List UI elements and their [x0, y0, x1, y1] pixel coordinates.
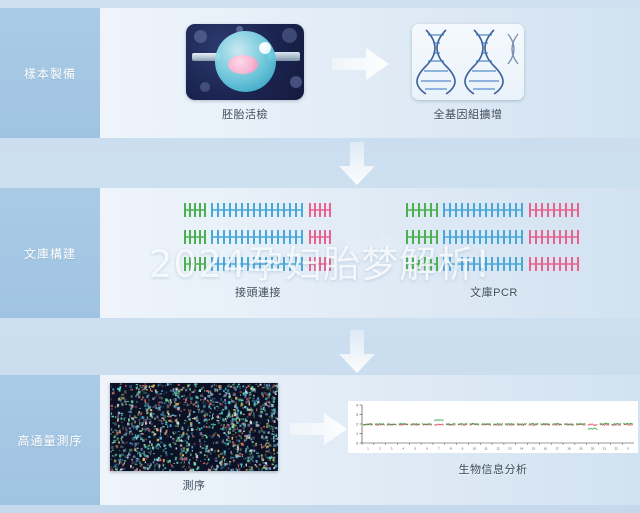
- stage-label-text: 高通量測序: [17, 432, 82, 449]
- stage-label-text: 文庫構建: [24, 245, 76, 262]
- svg-text:2: 2: [379, 447, 381, 451]
- sequencing-flowcell-image: [110, 383, 278, 471]
- stage-body-sequencing: 測序 012341234567891011121314151: [100, 375, 640, 505]
- arrow-down-icon: [338, 142, 376, 186]
- panel-bioinformatics-analysis: 0123412345678910111213141516171819202122…: [348, 401, 638, 477]
- workflow-diagram: 樣本製備 胚胎活檢: [0, 0, 640, 513]
- svg-text:X: X: [627, 447, 629, 451]
- svg-text:15: 15: [532, 447, 536, 451]
- panel-caption: 胚胎活檢: [186, 106, 304, 122]
- svg-text:3: 3: [391, 447, 393, 451]
- svg-text:9: 9: [462, 447, 464, 451]
- svg-text:19: 19: [579, 447, 583, 451]
- arrow-right-icon: [290, 411, 348, 447]
- stage-body-library-construction: 接頭連接: [100, 188, 640, 318]
- svg-text:5: 5: [414, 447, 416, 451]
- svg-text:22: 22: [615, 447, 619, 451]
- svg-text:16: 16: [544, 447, 548, 451]
- svg-text:20: 20: [591, 447, 595, 451]
- panel-caption: 接頭連接: [182, 284, 334, 300]
- arrow-down-icon: [338, 330, 376, 374]
- svg-text:6: 6: [426, 447, 428, 451]
- inner-cell-mass-shape: [228, 55, 258, 74]
- svg-text:14: 14: [520, 447, 524, 451]
- panel-caption: 測序: [110, 477, 278, 493]
- library-adapter-bars: [182, 200, 334, 274]
- blastocoel-shape: [259, 42, 271, 54]
- panel-adapter-ligation: 接頭連接: [182, 200, 334, 300]
- svg-text:10: 10: [473, 447, 477, 451]
- workflow-row-sequencing: 高通量測序 測序: [0, 375, 640, 505]
- dna-helix-image: [412, 24, 524, 100]
- embryo-biopsy-image: [186, 24, 304, 100]
- svg-text:13: 13: [508, 447, 512, 451]
- stage-label-sample-prep: 樣本製備: [0, 8, 100, 138]
- workflow-row-library-construction: 文庫構建: [0, 188, 640, 318]
- svg-text:18: 18: [567, 447, 571, 451]
- svg-text:0: 0: [356, 442, 358, 446]
- svg-text:3: 3: [356, 413, 358, 417]
- stage-body-sample-prep: 胚胎活檢: [100, 8, 640, 138]
- svg-text:1: 1: [356, 432, 358, 436]
- panel-caption: 生物信息分析: [348, 461, 638, 477]
- svg-text:1: 1: [367, 447, 369, 451]
- arrow-right-icon: [332, 46, 390, 82]
- svg-text:7: 7: [438, 447, 440, 451]
- panel-caption: 全基因組擴增: [412, 106, 524, 122]
- workflow-row-sample-prep: 樣本製備 胚胎活檢: [0, 8, 640, 138]
- stage-label-library-construction: 文庫構建: [0, 188, 100, 318]
- svg-text:12: 12: [496, 447, 500, 451]
- svg-text:8: 8: [450, 447, 452, 451]
- svg-text:4: 4: [403, 447, 405, 451]
- panel-whole-genome-amplification: 全基因組擴增: [412, 24, 524, 122]
- library-pcr-bars: [404, 200, 584, 274]
- svg-text:21: 21: [603, 447, 607, 451]
- cnv-plot-image: 0123412345678910111213141516171819202122…: [348, 401, 638, 453]
- svg-text:4: 4: [356, 404, 358, 408]
- stage-label-text: 樣本製備: [24, 65, 76, 82]
- arrow-right-icon: [346, 228, 404, 264]
- stage-label-sequencing: 高通量測序: [0, 375, 100, 505]
- svg-text:11: 11: [485, 447, 488, 451]
- panel-embryo-biopsy: 胚胎活檢: [186, 24, 304, 122]
- svg-text:17: 17: [555, 447, 559, 451]
- panel-caption: 文庫PCR: [404, 284, 584, 300]
- svg-text:2: 2: [356, 423, 358, 427]
- panel-library-pcr: 文庫PCR: [404, 200, 584, 300]
- panel-sequencing: 測序: [110, 383, 278, 493]
